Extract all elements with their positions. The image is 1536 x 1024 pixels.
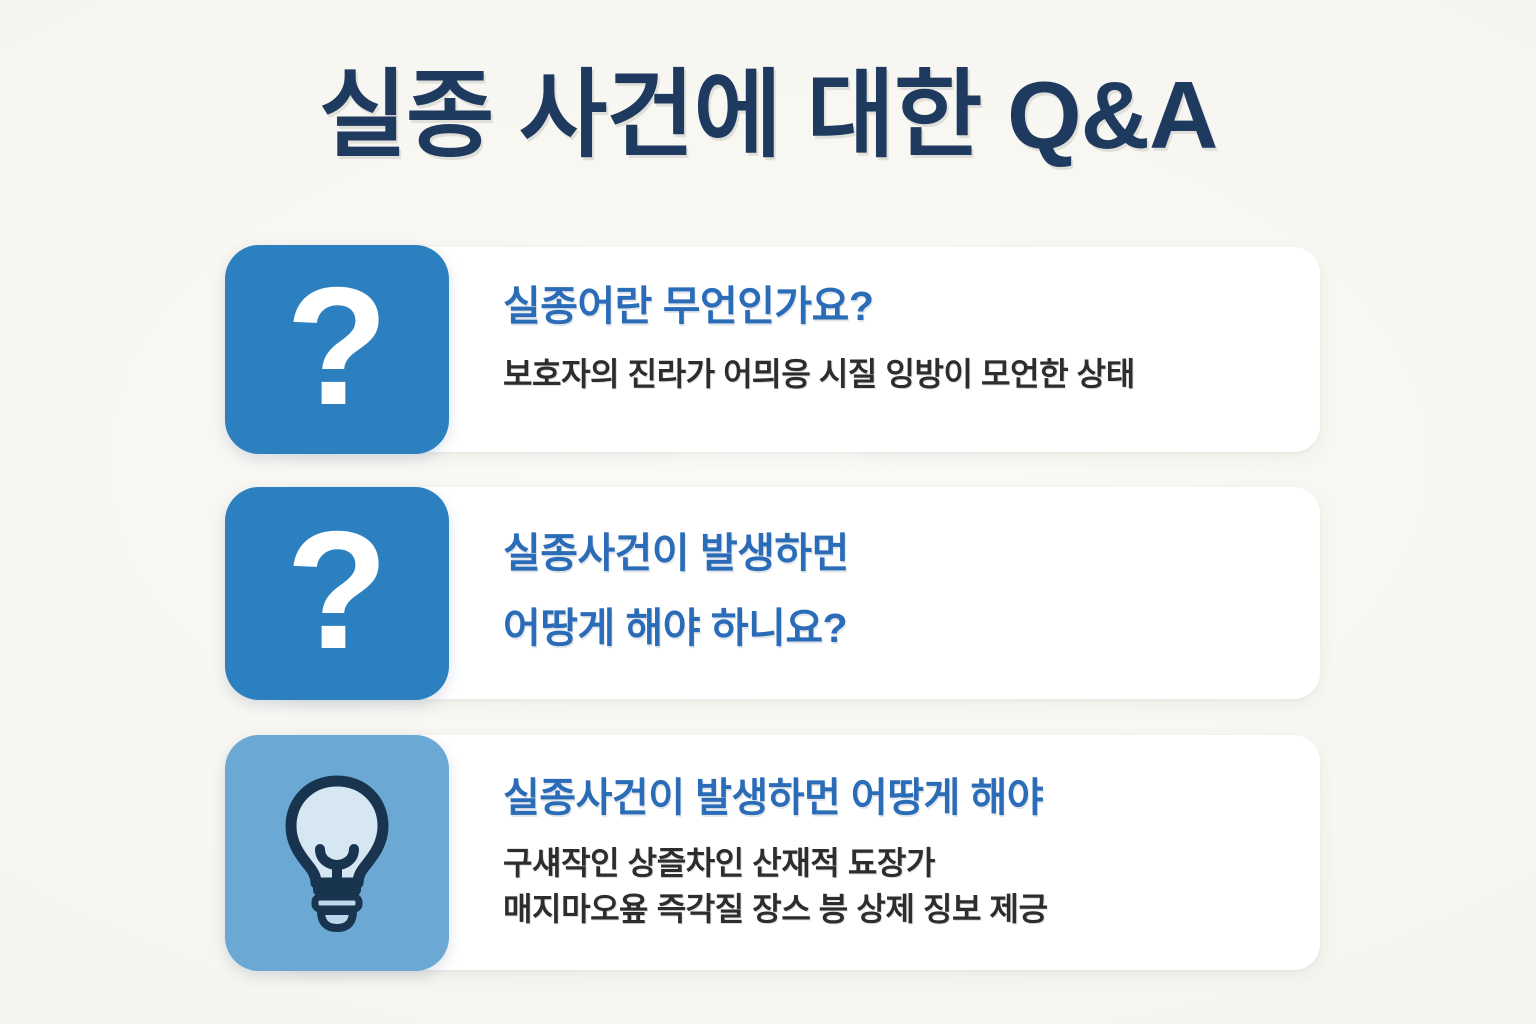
- faq-card-3-body-line-1: 구섀작인 상즐차인 산재적 됴장가: [503, 840, 1496, 886]
- faq-card-1-body-line-1: 보호자의 진라가 어믜응 시질 잉방이 모언한 상태: [503, 351, 1496, 397]
- question-mark-icon: ?: [286, 506, 389, 674]
- faq-card-2-heading-line-1: 실종사건이 발생하먼: [503, 525, 1496, 582]
- page-title: 실종 사건에 대한 Q&A: [0, 62, 1536, 170]
- faq-card-3-body: 구섀작인 상즐차인 산재적 됴장가 매지마오욮 즉각질 장스 븡 상제 징보 제…: [503, 840, 1496, 933]
- lightbulb-icon: [275, 773, 399, 933]
- faq-card-2-heading-line-2: 어땅게 해야 하니요?: [503, 600, 1496, 657]
- faq-card-3-content: 실종사건이 발생하먼 어땅게 해야 구섀작인 상즐차인 산재적 됴장가 매지마오…: [503, 770, 1496, 933]
- faq-card-3-heading: 실종사건이 발생하먼 어땅게 해야: [503, 770, 1496, 826]
- question-mark-icon: ?: [286, 262, 389, 430]
- faq-card-3-icon-tile: [225, 735, 449, 971]
- faq-card-1-body: 보호자의 진라가 어믜응 시질 잉방이 모언한 상태: [503, 351, 1496, 397]
- infographic-page: 실종 사건에 대한 Q&A ? 실종어란 무언인가요? 보호자의 진라가 어믜응…: [0, 0, 1536, 1024]
- faq-card-1-content: 실종어란 무언인가요? 보호자의 진라가 어믜응 시질 잉방이 모언한 상태: [503, 278, 1496, 398]
- faq-card-1-heading: 실종어란 무언인가요?: [503, 278, 1496, 335]
- faq-card-2-content: 실종사건이 발생하먼 어땅게 해야 하니요?: [503, 525, 1496, 658]
- faq-card-3-body-line-2: 매지마오욮 즉각질 장스 븡 상제 징보 제긍: [503, 886, 1496, 932]
- faq-card-1-icon-tile: ?: [225, 245, 449, 454]
- faq-card-2-icon-tile: ?: [225, 487, 449, 700]
